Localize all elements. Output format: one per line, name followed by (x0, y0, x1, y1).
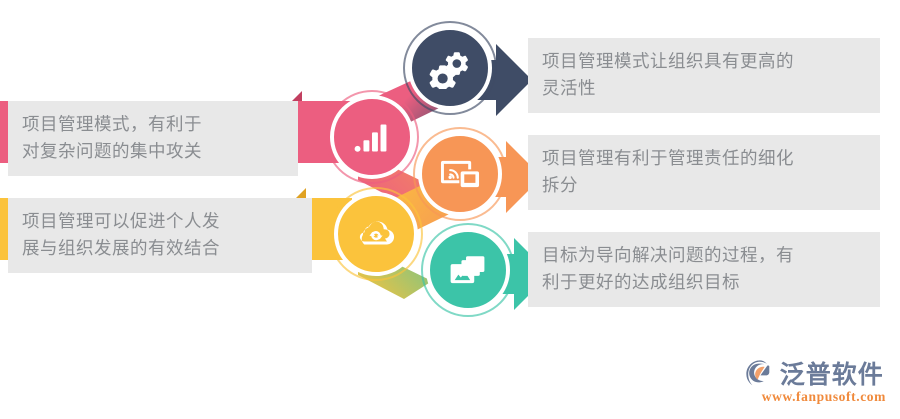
brand-row: 泛普软件 (744, 355, 884, 391)
icon-node-bar-chart (330, 95, 414, 179)
icon-node-cloud-sync (334, 192, 418, 276)
text-panel-right-2: 项目管理有利于管理责任的细化 拆分 (528, 135, 880, 210)
text-panel-left-1: 项目管理模式，有利于 对复杂问题的集中攻关 (8, 101, 298, 176)
icon-node-screen-cast (418, 132, 502, 216)
bar-chart-icon (351, 116, 393, 158)
icon-node-photo-gallery (426, 228, 510, 312)
brand-url: www.fanpusoft.com (744, 389, 886, 405)
fanpu-logo-icon (744, 358, 774, 388)
ribbon-fold-yellow (296, 188, 306, 198)
cloud-sync-icon (355, 213, 397, 255)
text-panel-right-3: 目标为导向解决问题的过程，有 利于更好的达成组织目标 (528, 232, 880, 307)
gears-icon (429, 47, 471, 89)
brand-name: 泛普软件 (780, 355, 884, 391)
infographic-canvas: 项目管理模式，有利于 对复杂问题的集中攻关 项目管理可以促进个人发 展与组织发展… (0, 0, 900, 419)
text-panel-right-1: 项目管理模式让组织具有更高的 灵活性 (528, 38, 880, 113)
photo-gallery-icon (447, 249, 489, 291)
ribbon-fold-pink (292, 91, 302, 101)
icon-node-gears (408, 26, 492, 110)
text-panel-left-2: 项目管理可以促进个人发 展与组织发展的有效结合 (8, 198, 312, 273)
arrow-navy-head (496, 44, 532, 116)
screen-cast-icon (439, 153, 481, 195)
brand-logo: 泛普软件 www.fanpusoft.com (744, 355, 886, 405)
